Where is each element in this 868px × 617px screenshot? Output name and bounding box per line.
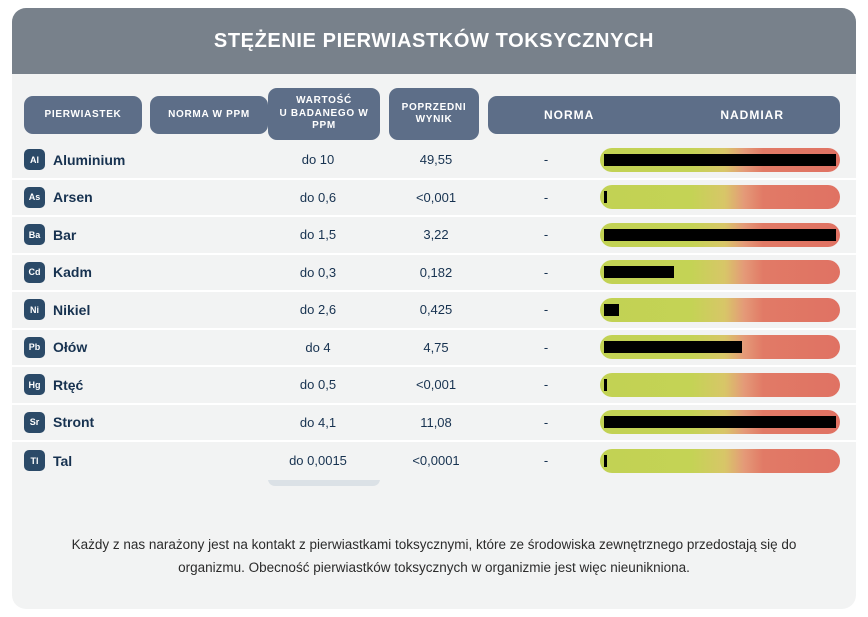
element-symbol-badge: Sr xyxy=(24,412,45,433)
cell-norm-value: do 4 xyxy=(256,340,380,355)
cell-element: PbOłów xyxy=(12,337,256,358)
scale-bar-marker xyxy=(604,416,836,428)
table-row: NiNikieldo 2,60,425- xyxy=(12,292,856,330)
cell-previous-result: - xyxy=(492,377,600,392)
cell-element: BaBar xyxy=(12,224,256,245)
table-row: CdKadmdo 0,30,182- xyxy=(12,255,856,293)
element-name: Stront xyxy=(53,414,94,430)
cell-measured-value: 49,55 xyxy=(380,152,492,167)
report-title-bar: STĘŻENIE PIERWIASTKÓW TOKSYCZNYCH xyxy=(12,8,856,74)
scale-bar-marker xyxy=(604,455,607,467)
cell-measured-value: 0,182 xyxy=(380,265,492,280)
cell-norm-value: do 0,6 xyxy=(256,190,380,205)
column-header-previous-line1: POPRZEDNI xyxy=(402,102,467,113)
cell-previous-result: - xyxy=(492,152,600,167)
element-name: Nikiel xyxy=(53,302,90,318)
element-symbol-badge: Tl xyxy=(24,450,45,471)
column-header-value-line1: WARTOŚĆ xyxy=(296,95,352,106)
cell-previous-result: - xyxy=(492,227,600,242)
scale-bar-marker xyxy=(604,379,607,391)
cell-measured-value: 11,08 xyxy=(380,415,492,430)
cell-scale-bar xyxy=(600,410,856,434)
element-symbol-badge: Hg xyxy=(24,374,45,395)
table-row: SrStrontdo 4,111,08- xyxy=(12,405,856,443)
scale-bar-track xyxy=(600,335,840,359)
page-title: STĘŻENIE PIERWIASTKÓW TOKSYCZNYCH xyxy=(214,30,654,53)
cell-scale-bar xyxy=(600,148,856,172)
cell-previous-result: - xyxy=(492,265,600,280)
scale-bar-marker xyxy=(604,191,607,203)
cell-previous-result: - xyxy=(492,453,600,468)
cell-norm-value: do 1,5 xyxy=(256,227,380,242)
cell-measured-value: 4,75 xyxy=(380,340,492,355)
cell-norm-value: do 4,1 xyxy=(256,415,380,430)
scale-bar-marker xyxy=(604,154,836,166)
cell-previous-result: - xyxy=(492,190,600,205)
column-header-value-line2: U BADANEGO W PPM xyxy=(280,108,369,132)
table-row: TlTaldo 0,0015<0,0001- xyxy=(12,442,856,480)
column-header-element: PIERWIASTEK xyxy=(24,96,142,134)
column-header-value: WARTOŚĆ U BADANEGO W PPM xyxy=(268,88,380,140)
cell-scale-bar xyxy=(600,185,856,209)
scale-bar-track xyxy=(600,223,840,247)
cell-scale-bar xyxy=(600,335,856,359)
element-symbol-badge: Ni xyxy=(24,299,45,320)
cell-scale-bar xyxy=(600,298,856,322)
cell-measured-value: <0,001 xyxy=(380,377,492,392)
element-name: Ołów xyxy=(53,339,87,355)
footer-note: Każdy z nas narażony jest na kontakt z p… xyxy=(12,504,856,609)
cell-previous-result: - xyxy=(492,415,600,430)
element-symbol-badge: As xyxy=(24,187,45,208)
cell-element: NiNikiel xyxy=(12,299,256,320)
cell-scale-bar xyxy=(600,373,856,397)
cell-element: AlAluminium xyxy=(12,149,256,170)
cell-element: TlTal xyxy=(12,450,256,471)
column-header-scale: NORMA NADMIAR xyxy=(488,96,840,134)
table-row: HgRtęćdo 0,5<0,001- xyxy=(12,367,856,405)
cell-norm-value: do 2,6 xyxy=(256,302,380,317)
scale-bar-track xyxy=(600,373,840,397)
table-body: AlAluminiumdo 1049,55-AsArsendo 0,6<0,00… xyxy=(12,142,856,480)
report-card: STĘŻENIE PIERWIASTKÓW TOKSYCZNYCH PIERWI… xyxy=(12,8,856,609)
column-header-previous: POPRZEDNI WYNIK xyxy=(389,88,479,140)
cell-element: AsArsen xyxy=(12,187,256,208)
scale-bar-track xyxy=(600,449,840,473)
element-symbol-badge: Cd xyxy=(24,262,45,283)
table-row: AlAluminiumdo 1049,55- xyxy=(12,142,856,180)
scale-bar-track xyxy=(600,410,840,434)
table-row: BaBardo 1,53,22- xyxy=(12,217,856,255)
element-symbol-badge: Al xyxy=(24,149,45,170)
column-header-norm: NORMA W PPM xyxy=(150,96,268,134)
table-row: AsArsendo 0,6<0,001- xyxy=(12,180,856,218)
scale-label-norm: NORMA xyxy=(544,108,594,123)
footer-text: Każdy z nas narażony jest na kontakt z p… xyxy=(54,534,814,579)
cell-scale-bar xyxy=(600,223,856,247)
cell-measured-value: 3,22 xyxy=(380,227,492,242)
scale-bar-track xyxy=(600,185,840,209)
scale-label-excess: NADMIAR xyxy=(720,108,784,123)
scale-bar-track xyxy=(600,298,840,322)
cell-element: HgRtęć xyxy=(12,374,256,395)
cell-previous-result: - xyxy=(492,340,600,355)
cell-measured-value: <0,0001 xyxy=(380,453,492,468)
scale-bar-marker xyxy=(604,304,619,316)
element-name: Arsen xyxy=(53,189,93,205)
element-name: Tal xyxy=(53,453,72,469)
cell-element: CdKadm xyxy=(12,262,256,283)
table-column-headers: PIERWIASTEK NORMA W PPM WARTOŚĆ U BADANE… xyxy=(12,86,856,142)
scale-bar-marker xyxy=(604,266,674,278)
cell-norm-value: do 0,3 xyxy=(256,265,380,280)
cell-norm-value: do 10 xyxy=(256,152,380,167)
cell-measured-value: <0,001 xyxy=(380,190,492,205)
element-name: Rtęć xyxy=(53,377,83,393)
scale-bar-track xyxy=(600,148,840,172)
scale-bar-marker xyxy=(604,229,836,241)
cell-measured-value: 0,425 xyxy=(380,302,492,317)
cell-scale-bar xyxy=(600,260,856,284)
cell-norm-value: do 0,5 xyxy=(256,377,380,392)
cell-element: SrStront xyxy=(12,412,256,433)
element-symbol-badge: Pb xyxy=(24,337,45,358)
element-name: Kadm xyxy=(53,264,92,280)
element-name: Aluminium xyxy=(53,152,125,168)
results-table: AlAluminiumdo 1049,55-AsArsendo 0,6<0,00… xyxy=(12,142,856,480)
table-row: PbOłówdo 44,75- xyxy=(12,330,856,368)
column-header-previous-line2: WYNIK xyxy=(416,114,453,125)
element-symbol-badge: Ba xyxy=(24,224,45,245)
cell-previous-result: - xyxy=(492,302,600,317)
scale-bar-marker xyxy=(604,341,742,353)
scale-bar-track xyxy=(600,260,840,284)
element-name: Bar xyxy=(53,227,76,243)
cell-norm-value: do 0,0015 xyxy=(256,453,380,468)
cell-scale-bar xyxy=(600,449,856,473)
